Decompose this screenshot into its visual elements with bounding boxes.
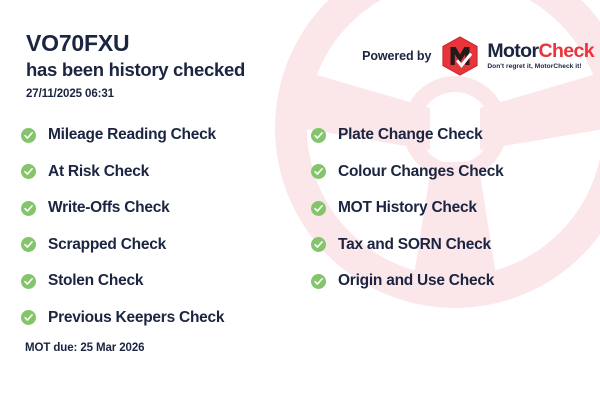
check-circle-icon	[311, 201, 326, 216]
check-item-label: Stolen Check	[48, 272, 143, 290]
check-item-label: Tax and SORN Check	[338, 236, 491, 254]
vehicle-history-check-card: VO70FXU has been history checked 27/11/2…	[0, 0, 600, 400]
list-item: Previous Keepers Check	[21, 300, 311, 337]
list-item: Stolen Check	[21, 263, 311, 300]
check-item-label: Mileage Reading Check	[48, 126, 216, 144]
check-circle-icon	[311, 274, 326, 289]
check-circle-icon	[21, 164, 36, 179]
check-circle-icon	[21, 201, 36, 216]
check-item-label: At Risk Check	[48, 163, 149, 181]
motorcheck-hexagon-logo-icon	[441, 36, 479, 76]
brand-wordmark-motor: Motor	[487, 40, 538, 62]
list-item: Tax and SORN Check	[311, 227, 579, 264]
check-timestamp: 27/11/2025 06:31	[26, 88, 245, 100]
list-item: MOT History Check	[311, 190, 579, 227]
brand-tagline: Don't regret it, MotorCheck it!	[487, 64, 594, 71]
page-title: has been history checked	[26, 58, 245, 81]
check-item-label: MOT History Check	[338, 199, 477, 217]
check-circle-icon	[21, 128, 36, 143]
check-item-label: Origin and Use Check	[338, 272, 494, 290]
list-item: Write-Offs Check	[21, 190, 311, 227]
registration-plate-number: VO70FXU	[26, 30, 245, 57]
list-item: Colour Changes Check	[311, 154, 579, 191]
mot-due-date: MOT due: 25 Mar 2026	[25, 342, 144, 354]
check-list-left-column: Mileage Reading Check At Risk Check Writ…	[21, 117, 311, 336]
history-check-list: Mileage Reading Check At Risk Check Writ…	[21, 117, 579, 336]
powered-by-label: Powered by	[362, 49, 431, 63]
check-list-right-column: Plate Change Check Colour Changes Check …	[311, 117, 579, 300]
check-circle-icon	[21, 237, 36, 252]
check-circle-icon	[21, 274, 36, 289]
check-item-label: Scrapped Check	[48, 236, 166, 254]
check-circle-icon	[311, 164, 326, 179]
check-item-label: Write-Offs Check	[48, 199, 169, 217]
footer: MOT due: 25 Mar 2026	[25, 342, 144, 354]
list-item: Mileage Reading Check	[21, 117, 311, 154]
check-item-label: Plate Change Check	[338, 126, 483, 144]
check-circle-icon	[21, 310, 36, 325]
brand-wordmark-check: Check	[538, 40, 594, 62]
brand-wordmark-block: MotorCheck Don't regret it, MotorCheck i…	[487, 42, 594, 71]
check-item-label: Previous Keepers Check	[48, 309, 224, 327]
check-item-label: Colour Changes Check	[338, 163, 504, 181]
list-item: Plate Change Check	[311, 117, 579, 154]
list-item: At Risk Check	[21, 154, 311, 191]
powered-by-brand: Powered by MotorCheck Don't regret it, M…	[362, 36, 594, 76]
header: VO70FXU has been history checked 27/11/2…	[26, 30, 245, 100]
list-item: Scrapped Check	[21, 227, 311, 264]
check-circle-icon	[311, 128, 326, 143]
list-item: Origin and Use Check	[311, 263, 579, 300]
check-circle-icon	[311, 237, 326, 252]
brand-wordmark: MotorCheck	[487, 42, 594, 62]
